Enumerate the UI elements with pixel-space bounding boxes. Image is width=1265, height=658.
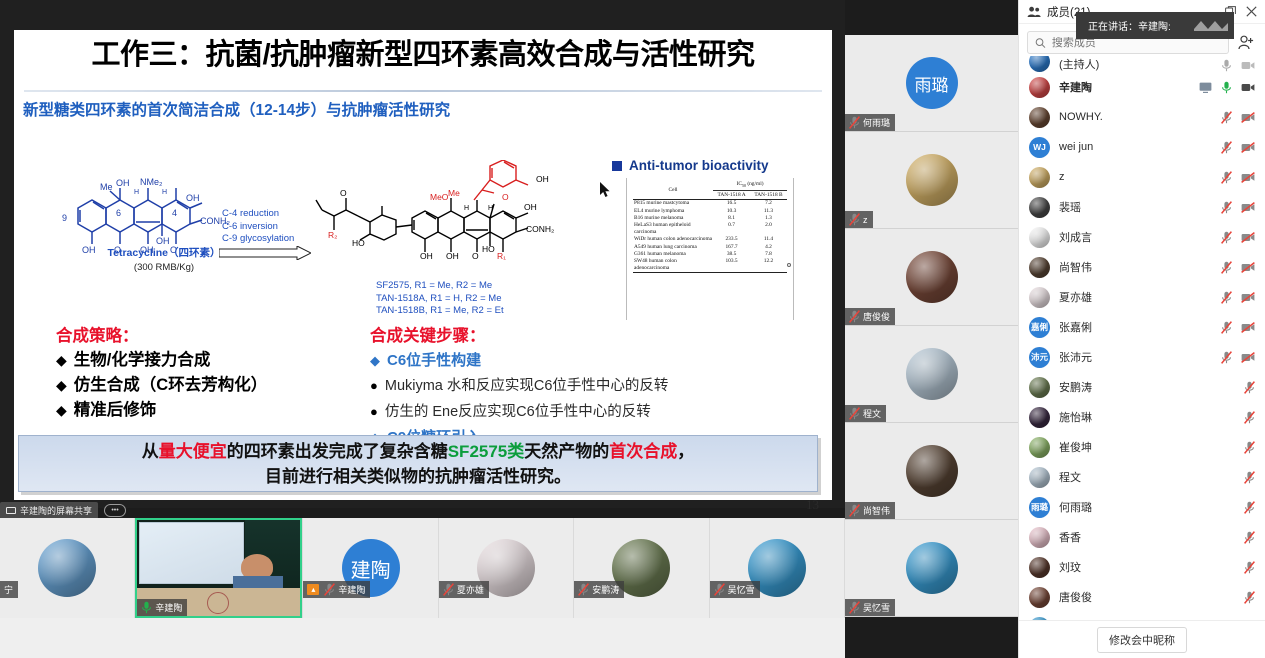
rename-button[interactable]: 修改会中昵称 (1097, 627, 1187, 653)
camera-muted-icon[interactable] (1241, 202, 1255, 213)
table-row: HeLaS3 human epitheloid carcinoma0.72.0 (633, 222, 787, 236)
conclusion-segment-3: SF2575类 (448, 442, 525, 461)
table-cell-tan-a: 167.7 (713, 243, 750, 250)
avatar (1029, 56, 1050, 72)
reaction-step-0: C-4 reduction (222, 208, 294, 221)
camera-icon[interactable] (1241, 82, 1255, 93)
camera-muted-icon[interactable] (1241, 322, 1255, 333)
screen-share-bar: 辛建陶的屏幕共享 ••• (0, 503, 126, 518)
video-tile[interactable]: 唐俊俊 (845, 229, 1018, 326)
conclusion-segment-2: 的四环素出发完成了复杂含糖 (227, 442, 448, 461)
label-meo: MeO (430, 192, 449, 202)
participant-status-icons (1221, 321, 1255, 334)
participant-name: 夏亦雄 (1059, 289, 1212, 305)
filmstrip-name-chip: 辛建陶 (137, 599, 187, 616)
participant-status-icons (1221, 111, 1255, 124)
avatar (1029, 77, 1050, 98)
video-tile-name-chip: 程文 (845, 405, 886, 422)
filmstrip-name-chip: 夏亦雄 (439, 581, 489, 598)
table-cell-name: HeLaS3 human epitheloid carcinoma (633, 222, 713, 236)
mic-muted-icon[interactable] (1221, 141, 1232, 154)
camera-muted-icon[interactable] (1241, 172, 1255, 183)
video-tile[interactable]: z (845, 132, 1018, 229)
participant-name: 辛建陶 (1059, 79, 1190, 95)
table-cell-tan-b: 2.0 (750, 222, 787, 236)
screen-share-icon[interactable] (1199, 82, 1212, 93)
filmstrip-name-chip: 安鹏涛 (574, 581, 624, 598)
participant-row[interactable]: 吴忆雪 (1019, 612, 1265, 620)
sf2575-legend: SF2575, R1 = Me, R2 = Me TAN-1518A, R1 =… (376, 280, 504, 318)
host-badge-icon: ▴ (307, 584, 319, 595)
dot-bullet-icon: ● (370, 373, 378, 398)
video-tile[interactable]: 吴忆雪 (845, 520, 1018, 617)
mic-icon[interactable] (1221, 81, 1232, 94)
participant-status-icons (1221, 261, 1255, 274)
participant-row[interactable]: 程文 (1019, 462, 1265, 492)
dot-bullet-icon: ● (370, 399, 378, 424)
avatar: 雨璐 (1029, 497, 1050, 518)
share-label: 辛建陶的屏幕共享 (20, 504, 92, 517)
participant-status-icons (1221, 201, 1255, 214)
label-h-mid-2: H (488, 205, 493, 212)
avatar (1029, 197, 1050, 218)
participant-status-icons (1199, 81, 1255, 94)
filmstrip-tile[interactable]: 宁 (0, 518, 135, 618)
filmstrip-name: 夏亦雄 (457, 583, 484, 596)
legend-line-1: TAN-1518A, R1 = H, R2 = Me (376, 293, 504, 306)
label-o-mid-1: O (472, 251, 479, 261)
key-step-label: 仿生的 Ene反应实现C6位手性中心的反转 (385, 400, 651, 425)
participant-row[interactable]: 崔俊坤 (1019, 432, 1265, 462)
camera-muted-icon[interactable] (1241, 262, 1255, 273)
wave-icon (1194, 19, 1228, 32)
table-row: EL4 murine lymphoma10.311.3 (633, 207, 787, 214)
table-cell-name: EL4 murine lymphoma (633, 207, 713, 214)
mic-muted-icon[interactable] (714, 583, 725, 596)
camera-muted-icon[interactable] (1241, 352, 1255, 363)
conclusion-banner: 从量大便宜的四环素出发完成了复杂含糖SF2575类天然产物的首次合成， 目前进行… (18, 435, 818, 492)
label-9: 9 (62, 213, 67, 223)
active-speaker-video[interactable]: 辛建陶 (135, 518, 302, 618)
bioactivity-table: Cell IC50 (ng/ml) TAN-1518 A TAN-1518 B … (633, 181, 787, 275)
table-cell-tan-b: 7.2 (750, 199, 787, 207)
label-oh-1: OH (116, 178, 130, 188)
bioactivity-heading-text: Anti-tumor bioactivity (629, 158, 769, 173)
avatar (906, 348, 958, 400)
video-tile-name-chip: 吴忆雪 (845, 599, 895, 616)
table-header-tan-b: TAN-1518 B (750, 191, 787, 199)
strategy-item-label: 精准后修饰 (74, 398, 157, 423)
table-cell-name: P815 murine mastcytoma (633, 199, 713, 207)
table-marker-icon (787, 263, 791, 267)
avatar: 嘉俐 (1029, 317, 1050, 338)
reaction-step-2: C-9 glycosylation (222, 233, 294, 246)
mic-icon[interactable] (1221, 59, 1232, 72)
mic-muted-icon[interactable] (1244, 561, 1255, 574)
add-person-icon (1238, 35, 1254, 50)
mouse-cursor-icon (600, 182, 611, 198)
participant-row[interactable]: 夏亦雄 (1019, 282, 1265, 312)
participant-status-icons (1244, 531, 1255, 544)
monitor-icon (6, 507, 16, 515)
legend-line-0: SF2575, R1 = Me, R2 = Me (376, 280, 504, 293)
table-cell-tan-a: 0.7 (713, 222, 750, 236)
label-oh-sal: OH (536, 174, 549, 184)
table-row: B16 murine melanoma8.11.3 (633, 215, 787, 222)
mic-muted-icon[interactable] (1221, 261, 1232, 274)
video-filmstrip[interactable]: 宁辛建陶建陶▴辛建陶夏亦雄安鹏涛吴忆雪 (0, 518, 845, 658)
participant-name: 施怡琳 (1059, 409, 1235, 425)
video-tile[interactable]: 雨璐何雨璐 (845, 35, 1018, 132)
camera-icon[interactable] (1241, 60, 1255, 71)
participant-status-icons (1221, 351, 1255, 364)
close-icon[interactable] (1246, 6, 1257, 17)
conclusion-segment-4: 天然产物的 (524, 442, 609, 461)
avatar: 沛元 (1029, 347, 1050, 368)
filmstrip-name-chip: 吴忆雪 (710, 581, 760, 598)
title-divider (24, 90, 822, 92)
avatar (1029, 437, 1050, 458)
presentation-slide: 工作三：抗菌/抗肿瘤新型四环素高效合成与活性研究 新型糖类四环素的首次简洁合成（… (14, 30, 832, 500)
participant-status-icons (1221, 141, 1255, 154)
participant-row[interactable]: 唐俊俊 (1019, 582, 1265, 612)
participant-video-column[interactable]: 雨璐何雨璐z唐俊俊程文尚智伟吴忆雪 (845, 0, 1018, 658)
label-6: 6 (116, 208, 121, 218)
avatar (906, 154, 958, 206)
label-r2: R₂ (328, 230, 337, 240)
filmstrip-name-chip: ▴辛建陶 (303, 581, 370, 598)
participant-status-icons (1244, 591, 1255, 604)
participant-name: 张嘉俐 (1059, 319, 1212, 335)
mic-muted-icon[interactable] (1221, 321, 1232, 334)
participant-name: 安鹏涛 (1059, 379, 1235, 395)
conclusion-segment-1: 量大便宜 (159, 442, 227, 461)
meeting-window: 工作三：抗菌/抗肿瘤新型四环素高效合成与活性研究 新型糖类四环素的首次简洁合成（… (0, 0, 1265, 658)
label-conh2-mid: CONH₂ (526, 224, 554, 234)
participant-row[interactable]: 刘成言 (1019, 222, 1265, 252)
bioactivity-heading: Anti-tumor bioactivity (612, 158, 769, 173)
strategy-item-label: 仿生合成（C环去芳构化） (74, 373, 267, 398)
strategy-heading: 合成策略： (56, 324, 376, 348)
participant-name: 香香 (1059, 529, 1235, 545)
participant-row[interactable]: (主持人) (1019, 56, 1265, 72)
avatar (1029, 407, 1050, 428)
table-cell-tan-a: 103.5 (713, 258, 750, 272)
participant-status-icons (1221, 59, 1255, 72)
participant-row[interactable]: 施怡琳 (1019, 402, 1265, 432)
filmstrip-name: 安鹏涛 (592, 583, 619, 596)
table-cell-tan-b: 1.3 (750, 215, 787, 222)
participant-status-icons (1244, 411, 1255, 424)
key-step-label: Mukiyma 水和反应实现C6位手性中心的反转 (385, 374, 669, 399)
participant-name: 何雨璐 (1059, 499, 1235, 515)
strategy-item: ◆ 精准后修饰 (56, 398, 376, 423)
diamond-bullet-icon: ◆ (56, 373, 67, 398)
participant-name: 崔俊坤 (1059, 439, 1235, 455)
participant-status-icons (1221, 171, 1255, 184)
label-oh-2: OH (186, 193, 200, 203)
avatar (1029, 257, 1050, 278)
mic-icon[interactable] (141, 601, 152, 614)
table-cell-tan-a: 10.3 (713, 207, 750, 214)
label-o-sal: O (502, 192, 509, 202)
avatar (1029, 287, 1050, 308)
participant-row[interactable]: 沛元张沛元 (1019, 342, 1265, 372)
conclusion-segment-0: 从 (142, 442, 159, 461)
label-o-ester: O (340, 188, 347, 198)
participant-row[interactable]: 雨璐何雨璐 (1019, 492, 1265, 522)
avatar (1029, 377, 1050, 398)
speaking-toast-text: 正在讲话：辛建陶: (1088, 18, 1171, 33)
strategy-column: 合成策略： ◆ 生物/化学接力合成 ◆ 仿生合成（C环去芳构化） ◆ 精准后修饰 (56, 324, 376, 423)
participants-panel-footer: 修改会中昵称 (1019, 620, 1265, 658)
label-h-1: H (134, 189, 139, 196)
key-step-label: C6位手性构建 (387, 348, 481, 373)
slide-page-number: 13 (806, 497, 819, 513)
sf2575-structure: MeO Me OH CONH₂ R₁ O OH OH HO HO R₂ O (312, 160, 572, 285)
label-me: Me (100, 182, 113, 192)
diamond-bullet-icon: ◆ (56, 348, 67, 373)
key-step-item: ● Mukiyma 水和反应实现C6位手性中心的反转 (370, 373, 770, 399)
avatar (906, 542, 958, 594)
label-ho-sugar: HO (352, 238, 365, 248)
mic-muted-icon[interactable] (849, 407, 860, 420)
reaction-step-1: C-6 inversion (222, 221, 294, 234)
avatar (38, 539, 96, 597)
participant-row[interactable]: 香香 (1019, 522, 1265, 552)
mic-muted-icon[interactable] (1221, 111, 1232, 124)
participants-list[interactable]: (主持人)辛建陶NOWHY.WJwei junz裴瑶刘成言尚智伟夏亦雄嘉俐张嘉俐… (1019, 56, 1265, 620)
share-more-label: ••• (111, 507, 118, 514)
participant-status-icons (1244, 501, 1255, 514)
mic-muted-icon[interactable] (578, 583, 589, 596)
camera-muted-icon[interactable] (1241, 142, 1255, 153)
diamond-bullet-icon: ◆ (56, 398, 67, 423)
participants-panel[interactable]: 成员(21) 正在讲话：辛建陶: (1018, 0, 1265, 658)
label-nme2: NMe₂ (140, 177, 163, 187)
participant-name: (主持人) (1059, 56, 1212, 72)
share-more-button[interactable]: ••• (104, 504, 126, 517)
table-cell-tan-a: 8.1 (713, 215, 750, 222)
mic-muted-icon[interactable] (1244, 501, 1255, 514)
avatar (1029, 467, 1050, 488)
table-header-tan-a: TAN-1518 A (713, 191, 750, 199)
strategy-item-label: 生物/化学接力合成 (74, 348, 211, 373)
participant-row[interactable]: 刘玟 (1019, 552, 1265, 582)
table-header-ic50: IC50 (ng/ml) (713, 181, 787, 191)
key-steps-heading: 合成关键步骤： (370, 324, 770, 348)
table-row: A549 human lung carcinoma167.74.2 (633, 243, 787, 250)
key-step-item: ◆ C6位手性构建 (370, 348, 770, 373)
participant-row[interactable]: 嘉俐张嘉俐 (1019, 312, 1265, 342)
filmstrip-tile[interactable]: 建陶▴辛建陶 (303, 518, 438, 618)
participant-name: 刘成言 (1059, 229, 1212, 245)
participant-row[interactable]: WJwei jun (1019, 132, 1265, 162)
mic-muted-icon[interactable] (1244, 411, 1255, 424)
filmstrip-tile[interactable]: 吴忆雪 (710, 518, 845, 618)
mic-muted-icon[interactable] (849, 504, 860, 517)
filmstrip-tile[interactable]: 夏亦雄 (439, 518, 574, 618)
avatar (1029, 617, 1050, 621)
video-tile-name-chip: 唐俊俊 (845, 308, 895, 325)
mic-muted-icon[interactable] (443, 583, 454, 596)
avatar (1029, 587, 1050, 608)
mic-muted-icon[interactable] (1244, 381, 1255, 394)
table-header-cell: Cell (633, 181, 713, 199)
avatar (1029, 167, 1050, 188)
meeting-stage: 工作三：抗菌/抗肿瘤新型四环素高效合成与活性研究 新型糖类四环素的首次简洁合成（… (0, 0, 1018, 658)
table-cell-tan-b: 12.2 (750, 258, 787, 272)
table-cell-name: A549 human lung carcinoma (633, 243, 713, 250)
table-cell-tan-b: 11.3 (750, 207, 787, 214)
mic-muted-icon[interactable] (1221, 351, 1232, 364)
label-h-2: H (162, 189, 167, 196)
mic-muted-icon[interactable] (1244, 441, 1255, 454)
label-oh-mid-1: OH (524, 202, 537, 212)
participant-row[interactable]: 辛建陶 (1019, 72, 1265, 102)
participant-status-icons (1244, 441, 1255, 454)
label-r1: R₁ (497, 251, 506, 261)
avatar (906, 251, 958, 303)
participant-name: 尚智伟 (1059, 259, 1212, 275)
video-tile-name-chip: 尚智伟 (845, 502, 895, 519)
mic-muted-icon[interactable] (1244, 531, 1255, 544)
label-oh-mid-3: OH (420, 251, 433, 261)
mic-muted-icon[interactable] (1221, 201, 1232, 214)
avatar (1029, 227, 1050, 248)
video-tile[interactable]: 尚智伟 (845, 423, 1018, 520)
mic-muted-icon[interactable] (849, 310, 860, 323)
slide-subtitle: 新型糖类四环素的首次简洁合成（12-14步）与抗肿瘤活性研究 (23, 98, 450, 120)
label-h-mid-1: H (464, 205, 469, 212)
table-cell-name: WiDr human colon adenocarcinoma (633, 236, 713, 243)
video-tile-name-chip: z (845, 211, 873, 228)
table-row: WiDr human colon adenocarcinoma233.511.4 (633, 236, 787, 243)
participant-status-icons (1221, 231, 1255, 244)
screen-share-chip[interactable]: 辛建陶的屏幕共享 (0, 502, 98, 519)
participant-row[interactable]: 裴瑶 (1019, 192, 1265, 222)
camera-muted-icon[interactable] (1241, 292, 1255, 303)
avatar (1029, 527, 1050, 548)
participant-row[interactable]: 尚智伟 (1019, 252, 1265, 282)
mic-muted-icon[interactable] (1221, 231, 1232, 244)
avatar (906, 445, 958, 497)
square-bullet-icon (612, 161, 622, 171)
filmstrip-name: 吴忆雪 (728, 583, 755, 596)
label-oh-mid-2: OH (446, 251, 459, 261)
table-bottom-rule (633, 273, 787, 275)
table-cell-tan-b: 4.2 (750, 243, 787, 250)
video-tile[interactable]: 程文 (845, 326, 1018, 423)
bioactivity-table-body: P815 murine mastcytoma16.57.2EL4 murine … (633, 199, 787, 274)
video-tile-name: 唐俊俊 (863, 310, 890, 323)
mic-muted-icon[interactable] (1244, 591, 1255, 604)
table-cell-name: G361 human melanoma (633, 251, 713, 258)
filmstrip-name: 宁 (4, 583, 13, 596)
participant-name: 吴忆雪 (1059, 619, 1235, 620)
mic-muted-icon[interactable] (1244, 471, 1255, 484)
reaction-step-labels: C-4 reduction C-6 inversion C-9 glycosyl… (222, 208, 294, 246)
filmstrip-tile[interactable]: 安鹏涛 (574, 518, 709, 618)
participant-name: 唐俊俊 (1059, 589, 1235, 605)
avatar: 雨璐 (906, 57, 958, 109)
video-tile-name: z (863, 215, 868, 225)
avatar (1029, 557, 1050, 578)
video-tile-name: 何雨璐 (863, 116, 890, 129)
table-cell-tan-a: 233.5 (713, 236, 750, 243)
reaction-arrow-icon (219, 246, 311, 260)
participant-status-icons (1244, 561, 1255, 574)
participant-name: NOWHY. (1059, 111, 1212, 123)
shared-screen-area[interactable]: 工作三：抗菌/抗肿瘤新型四环素高效合成与活性研究 新型糖类四环素的首次简洁合成（… (0, 0, 845, 508)
video-tile-name: 程文 (863, 407, 881, 420)
table-row: P815 murine mastcytoma16.57.2 (633, 199, 787, 207)
conclusion-segment-5: 首次合成 (609, 442, 677, 461)
conclusion-line-2: 目前进行相关类似物的抗肿瘤活性研究。 (265, 464, 571, 489)
label-4: 4 (172, 208, 177, 218)
legend-line-2: TAN-1518B, R1 = Me, R2 = Et (376, 305, 504, 318)
participant-row[interactable]: z (1019, 162, 1265, 192)
participant-row[interactable]: 安鹏涛 (1019, 372, 1265, 402)
key-step-item: ● 仿生的 Ene反应实现C6位手性中心的反转 (370, 399, 770, 425)
avatar: WJ (1029, 137, 1050, 158)
speaking-toast: 正在讲话：辛建陶: (1076, 12, 1234, 39)
tetracycline-price: (300 RMB/Kg) (64, 262, 264, 273)
video-tile-name: 吴忆雪 (863, 601, 890, 614)
mic-muted-icon[interactable] (1221, 291, 1232, 304)
participant-name: 程文 (1059, 469, 1235, 485)
strategy-item: ◆ 仿生合成（C环去芳构化） (56, 373, 376, 398)
table-cell-tan-a: 38.5 (713, 251, 750, 258)
avatar (1029, 107, 1050, 128)
search-icon (1035, 37, 1046, 49)
table-row: G361 human melanoma38.57.8 (633, 251, 787, 258)
participant-name: 裴瑶 (1059, 199, 1212, 215)
filmstrip-name: 辛建陶 (155, 601, 182, 614)
mic-muted-icon[interactable] (324, 583, 335, 596)
participant-row[interactable]: NOWHY. (1019, 102, 1265, 132)
mic-muted-icon[interactable] (849, 601, 860, 614)
table-cell-tan-b: 7.8 (750, 251, 787, 258)
table-cell-name: B16 murine melanoma (633, 215, 713, 222)
bioactivity-table-container: Cell IC50 (ng/ml) TAN-1518 A TAN-1518 B … (626, 178, 794, 320)
table-cell-tan-b: 11.4 (750, 236, 787, 243)
label-ho-mid: HO (482, 244, 495, 254)
table-row: SW48 human colon adenocarcinoma103.512.2 (633, 258, 787, 272)
mic-muted-icon[interactable] (1221, 171, 1232, 184)
conclusion-segment-6: ， (677, 442, 694, 461)
participant-status-icons (1244, 381, 1255, 394)
slide-title: 工作三：抗菌/抗肿瘤新型四环素高效合成与活性研究 (14, 35, 832, 75)
camera-muted-icon[interactable] (1241, 232, 1255, 243)
diamond-bullet-icon: ◆ (370, 348, 380, 373)
participant-name: 刘玟 (1059, 559, 1235, 575)
filmstrip-name: 辛建陶 (338, 583, 365, 596)
mic-muted-icon[interactable] (849, 116, 860, 129)
strategy-item: ◆ 生物/化学接力合成 (56, 348, 376, 373)
participant-name: 张沛元 (1059, 349, 1212, 365)
people-icon (1027, 6, 1041, 18)
participant-status-icons (1244, 471, 1255, 484)
participant-name: z (1059, 171, 1212, 183)
filmstrip-name-chip: 宁 (0, 581, 18, 598)
mic-muted-icon[interactable] (849, 213, 860, 226)
table-cell-tan-a: 16.5 (713, 199, 750, 207)
label-me-mid: Me (448, 188, 460, 198)
filmstrip-tile[interactable]: 辛建陶 (135, 518, 303, 618)
camera-muted-icon[interactable] (1241, 112, 1255, 123)
add-participant-button[interactable] (1235, 32, 1257, 54)
